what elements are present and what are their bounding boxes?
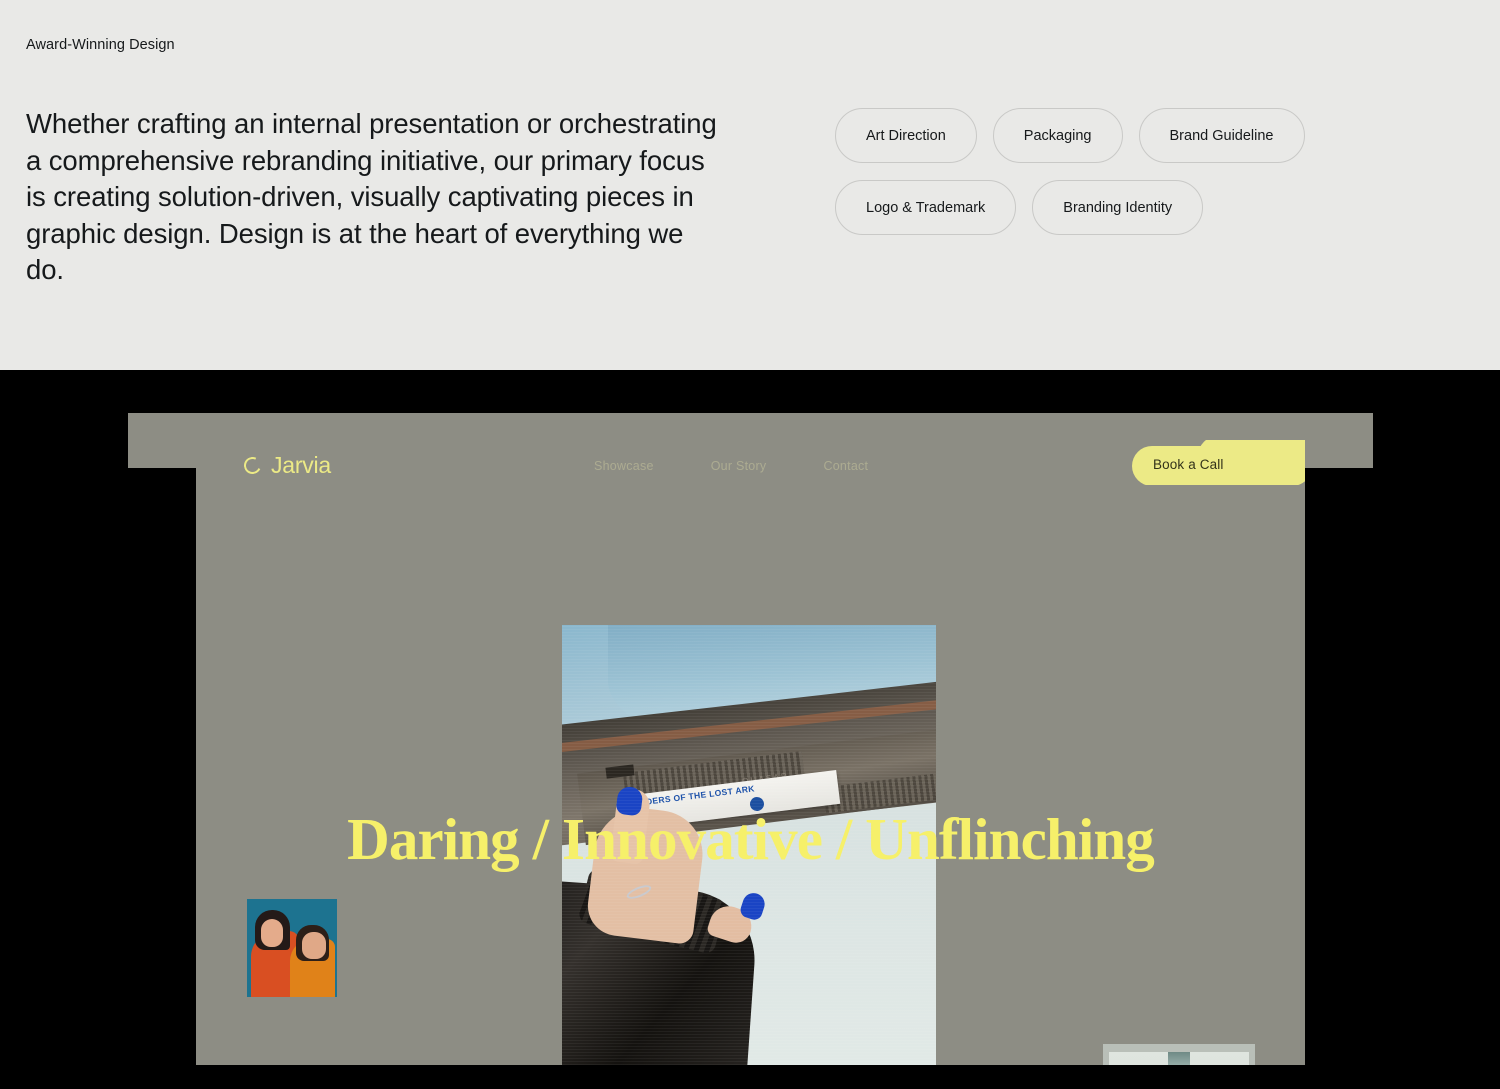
service-pill-brand-guideline[interactable]: Brand Guideline (1139, 108, 1305, 163)
screenshot-root: Award-Winning Design Whether crafting an… (0, 0, 1500, 1089)
nav-item-showcase[interactable]: Showcase (594, 459, 654, 473)
service-pill-label: Branding Identity (1063, 200, 1172, 216)
mockup-nav: Jarvia Showcase Our Story Contact Book a… (196, 440, 1305, 485)
duo-photo-face-left (261, 919, 283, 947)
brand-logo[interactable]: Jarvia (244, 452, 331, 479)
intro-section: Award-Winning Design Whether crafting an… (0, 0, 1500, 370)
service-pill-logo-trademark[interactable]: Logo & Trademark (835, 180, 1016, 235)
service-pill-label: Packaging (1024, 128, 1092, 144)
duo-photo-face-right (302, 932, 326, 959)
service-pill-branding-identity[interactable]: Branding Identity (1032, 180, 1203, 235)
service-pill-packaging[interactable]: Packaging (993, 108, 1123, 163)
service-pill-label: Art Direction (866, 128, 946, 144)
book-spine (1168, 1052, 1190, 1065)
crescent-swoosh-icon (242, 455, 264, 477)
book-mockup-photo (1103, 1044, 1255, 1065)
book-spread (1109, 1052, 1249, 1065)
service-pill-group: Art Direction Packaging Brand Guideline … (835, 108, 1380, 235)
nav-item-our-story[interactable]: Our Story (711, 459, 767, 473)
section-eyebrow: Award-Winning Design (26, 37, 175, 53)
duo-photo (247, 899, 337, 997)
service-pill-label: Logo & Trademark (866, 200, 985, 216)
book-a-call-button[interactable]: Book a Call (1153, 457, 1224, 472)
nav-item-contact[interactable]: Contact (823, 459, 868, 473)
book-page-right (1190, 1052, 1249, 1065)
service-pill-art-direction[interactable]: Art Direction (835, 108, 977, 163)
service-pill-label: Brand Guideline (1170, 128, 1274, 144)
mockup-nav-menu: Showcase Our Story Contact (594, 459, 868, 473)
book-page-left (1109, 1052, 1168, 1065)
mockup-site-panel: QUASAR RAIDERS OF THE LOST ARK Daring / … (196, 467, 1305, 1065)
hero-headline: Daring / Innovative / Unflinching (196, 810, 1305, 869)
brand-name: Jarvia (271, 452, 331, 479)
intro-paragraph: Whether crafting an internal presentatio… (26, 106, 726, 289)
showcase-section: QUASAR RAIDERS OF THE LOST ARK Daring / … (0, 370, 1500, 1089)
